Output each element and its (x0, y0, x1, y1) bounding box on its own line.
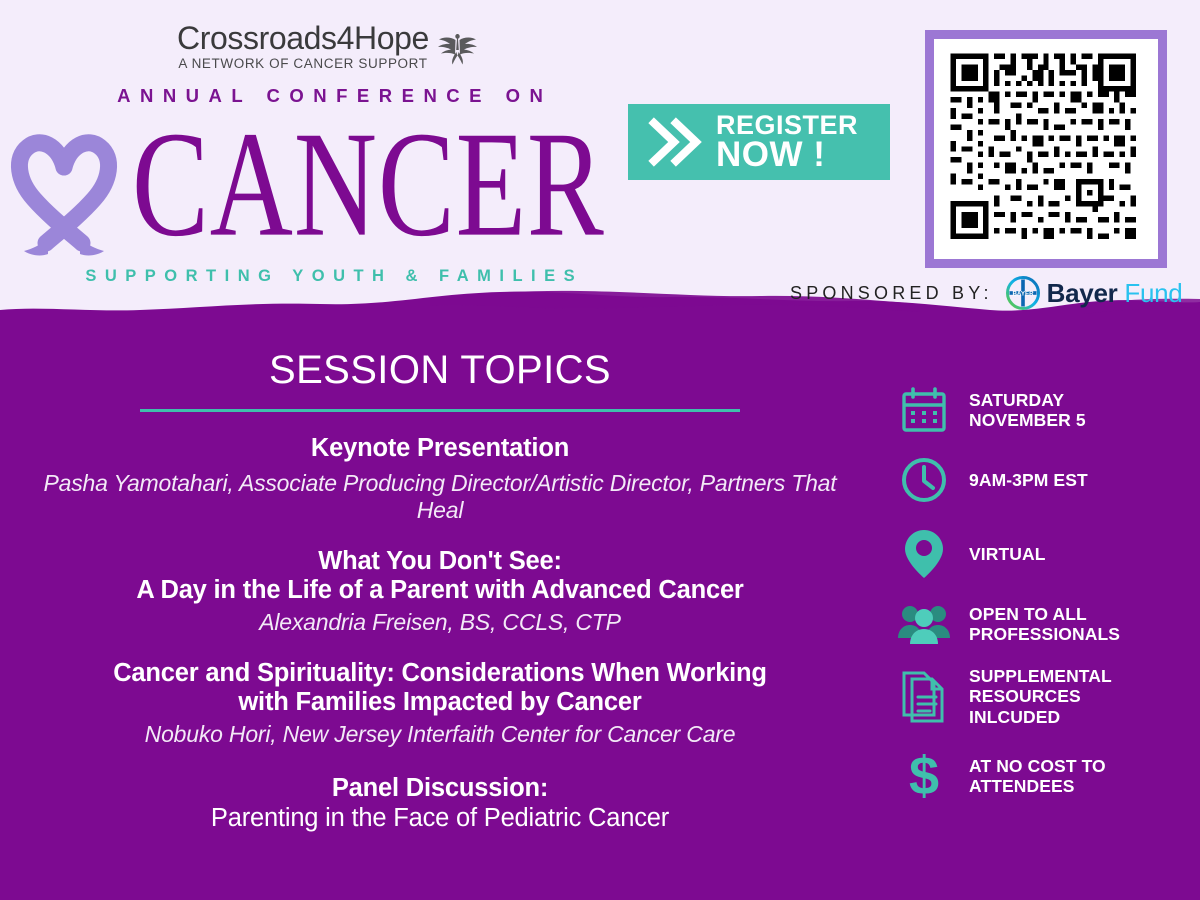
session-title-line1: Panel Discussion: (22, 774, 858, 804)
session-item: Keynote Presentation Pasha Yamotahari, A… (22, 434, 858, 525)
sponsored-by-label: SPONSORED BY: (790, 283, 993, 304)
info-item-audience: OPEN TO ALL PROFESSIONALS (893, 602, 1193, 646)
info-item-date: SATURDAY NOVEMBER 5 (893, 386, 1193, 434)
location-pin-icon (893, 528, 955, 580)
info-cost-line2: ATTENDEES (969, 776, 1075, 796)
info-item-location: VIRTUAL (893, 528, 1193, 580)
qr-code-inner (934, 39, 1158, 259)
session-speaker: Pasha Yamotahari, Associate Producing Di… (22, 470, 858, 525)
info-audience-line1: OPEN TO ALL (969, 604, 1087, 624)
session-item: Panel Discussion: Parenting in the Face … (22, 774, 858, 833)
info-resources-line2: RESOURCES (969, 686, 1081, 706)
info-audience-line2: PROFESSIONALS (969, 624, 1120, 644)
info-item-resources: SUPPLEMENTAL RESOURCES INLCUDED (893, 666, 1193, 727)
dollar-sign-icon: $ (893, 749, 955, 803)
bayer-fund-logo: BAYER Bayer Fund (1006, 276, 1183, 310)
butterfly-icon (433, 28, 483, 72)
info-text-cost: AT NO COST TO ATTENDEES (969, 756, 1106, 797)
sponsor-row: SPONSORED BY: BAYER Bayer Fund (790, 276, 1182, 310)
session-title: Keynote Presentation (22, 434, 858, 464)
session-title-line2: Parenting in the Face of Pediatric Cance… (22, 804, 858, 834)
svg-text:BAYER: BAYER (1012, 291, 1034, 298)
session-item: Cancer and Spirituality: Considerations … (22, 659, 858, 749)
organization-logo: Crossroads4Hope A NETWORK OF CANCER SUPP… (0, 22, 660, 72)
clock-icon (893, 456, 955, 504)
bayer-brand-name: Bayer (1047, 278, 1118, 308)
session-title-line1: Cancer and Spirituality: Considerations … (22, 659, 858, 689)
bayer-wordmark: Bayer Fund (1047, 278, 1183, 309)
info-text-audience: OPEN TO ALL PROFESSIONALS (969, 604, 1120, 645)
info-text-time: 9AM-3PM EST (969, 470, 1088, 490)
register-now-button[interactable]: REGISTER NOW ! (628, 104, 890, 180)
organization-logo-text: Crossroads4Hope A NETWORK OF CANCER SUPP… (177, 22, 429, 71)
info-resources-line1: SUPPLEMENTAL (969, 666, 1112, 686)
info-item-time: 9AM-3PM EST (893, 456, 1193, 504)
info-item-cost: $ AT NO COST TO ATTENDEES (893, 749, 1193, 803)
session-title-line2: with Families Impacted by Cancer (22, 688, 858, 718)
organization-tagline: A NETWORK OF CANCER SUPPORT (177, 56, 429, 71)
info-date-line1: SATURDAY (969, 390, 1064, 410)
calendar-icon (893, 386, 955, 434)
logo-block: Crossroads4Hope A NETWORK OF CANCER SUPP… (0, 22, 660, 286)
register-button-text: REGISTER NOW ! (716, 112, 858, 172)
register-label-line2: NOW ! (716, 138, 858, 172)
info-date-line2: NOVEMBER 5 (969, 410, 1086, 430)
event-details-sidebar: SATURDAY NOVEMBER 5 9AM-3PM EST VIRTUAL (893, 386, 1193, 827)
qr-code-frame[interactable] (925, 30, 1167, 268)
heart-ribbon-icon (2, 115, 130, 261)
session-title-line1: What You Don't See: (22, 547, 858, 577)
info-text-resources: SUPPLEMENTAL RESOURCES INLCUDED (969, 666, 1112, 727)
section-divider-rule (140, 409, 740, 412)
svg-text:$: $ (909, 749, 939, 803)
session-topics-section: SESSION TOPICS Keynote Presentation Pash… (0, 348, 880, 833)
session-speaker: Alexandria Freisen, BS, CCLS, CTP (22, 609, 858, 637)
double-chevron-right-icon (648, 115, 704, 169)
qr-code-icon (943, 48, 1149, 250)
session-speaker: Nobuko Hori, New Jersey Interfaith Cente… (22, 721, 858, 749)
info-resources-line3: INLCUDED (969, 707, 1060, 727)
document-icon (893, 669, 955, 723)
title-row: CANCER (0, 109, 660, 261)
session-item: What You Don't See: A Day in the Life of… (22, 547, 858, 637)
bayer-cross-icon: BAYER (1006, 276, 1040, 310)
info-cost-line1: AT NO COST TO (969, 756, 1106, 776)
organization-name: Crossroads4Hope (177, 22, 429, 55)
sub-eyebrow-text: SUPPORTING YOUTH & FAMILIES (0, 267, 660, 286)
bayer-fund-suffix: Fund (1124, 278, 1182, 308)
page-title: CANCER (132, 115, 605, 255)
session-title-line2: A Day in the Life of a Parent with Advan… (22, 576, 858, 606)
people-group-icon (893, 602, 955, 646)
info-text-location: VIRTUAL (969, 544, 1046, 564)
info-text-date: SATURDAY NOVEMBER 5 (969, 390, 1086, 431)
session-topics-heading: SESSION TOPICS (22, 348, 858, 393)
